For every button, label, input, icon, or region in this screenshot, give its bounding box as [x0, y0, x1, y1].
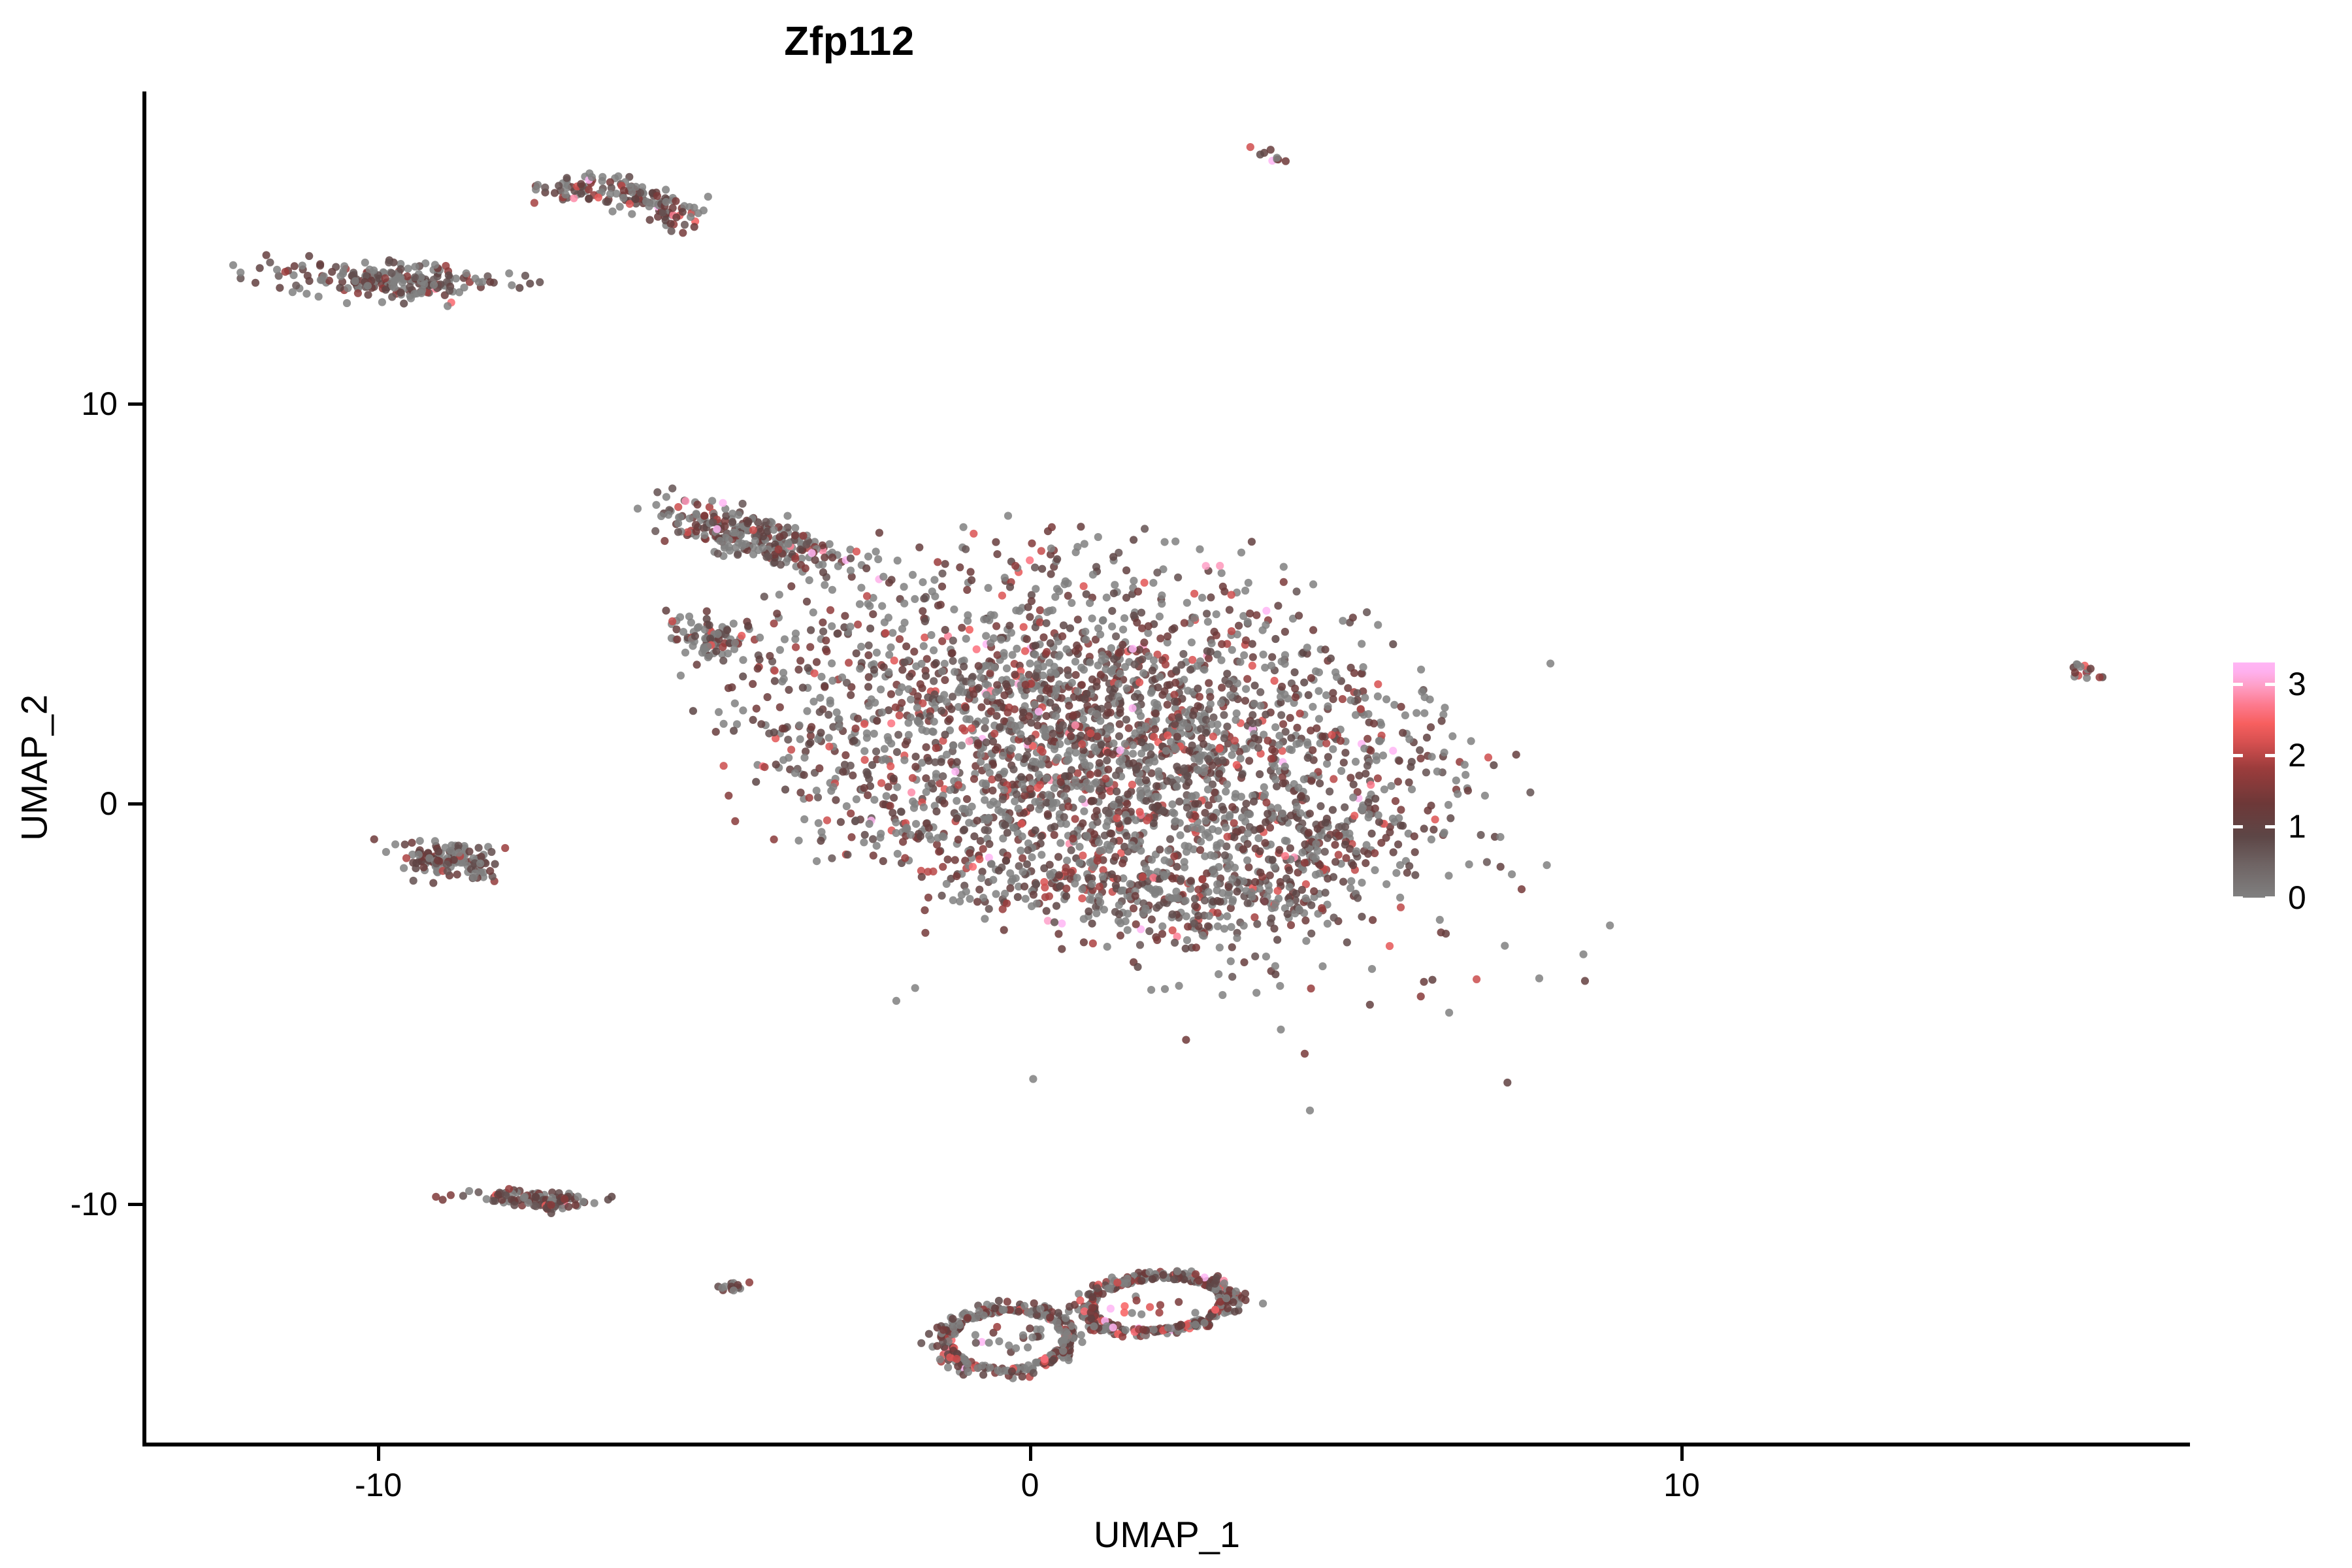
scatter-point: [730, 727, 738, 734]
scatter-point: [1353, 689, 1361, 697]
scatter-point: [1543, 861, 1551, 869]
scatter-point: [588, 173, 596, 181]
scatter-point: [1062, 892, 1070, 900]
scatter-point: [361, 259, 369, 267]
scatter-point: [1350, 781, 1358, 789]
scatter-point: [1000, 786, 1008, 794]
scatter-point: [668, 617, 676, 625]
scatter-point: [1262, 607, 1270, 615]
scatter-point: [936, 1356, 944, 1364]
scatter-point: [1274, 602, 1282, 610]
x-tick-label: 10: [1663, 1466, 1700, 1504]
scatter-point: [1322, 740, 1330, 747]
scatter-point: [1310, 887, 1318, 895]
scatter-point: [879, 800, 887, 808]
colorbar-tick-mark: [2265, 896, 2275, 900]
scatter-point: [1201, 896, 1209, 904]
scatter-point: [1060, 813, 1068, 821]
scatter-point: [770, 728, 778, 736]
scatter-point: [1022, 681, 1030, 689]
scatter-point: [1051, 919, 1058, 926]
scatter-point: [1066, 1303, 1073, 1311]
scatter-point: [841, 612, 849, 620]
scatter-point: [1060, 792, 1068, 800]
scatter-point: [1262, 711, 1269, 719]
scatter-point: [802, 540, 810, 548]
scatter-point: [1259, 1299, 1267, 1307]
scatter-point: [532, 1193, 540, 1201]
scatter-point: [873, 842, 881, 850]
scatter-point: [687, 619, 695, 627]
scatter-point: [1096, 847, 1103, 855]
scatter-point: [969, 673, 977, 681]
scatter-point: [1197, 838, 1205, 845]
scatter-point: [924, 693, 932, 701]
scatter-point: [1164, 632, 1171, 640]
scatter-point: [1209, 813, 1217, 821]
scatter-point: [604, 198, 612, 206]
scatter-point: [1181, 864, 1188, 872]
scatter-point: [1120, 614, 1128, 622]
scatter-point: [1231, 864, 1239, 872]
scatter-point: [892, 829, 900, 837]
scatter-point: [672, 625, 680, 633]
scatter-point: [1156, 634, 1164, 642]
scatter-point: [1074, 687, 1082, 695]
scatter-point: [1049, 606, 1056, 614]
scatter-point: [1467, 737, 1475, 745]
scatter-point: [1282, 157, 1290, 165]
scatter-point: [1315, 687, 1322, 695]
scatter-point: [1250, 734, 1258, 742]
scatter-point: [709, 519, 717, 527]
scatter-point: [1155, 1309, 1163, 1316]
scatter-point: [877, 779, 885, 787]
scatter-point: [1175, 1298, 1183, 1306]
scatter-point: [1420, 825, 1428, 832]
scatter-point: [1168, 910, 1176, 918]
scatter-point: [1364, 710, 1372, 718]
scatter-point: [819, 628, 827, 636]
scatter-point: [1241, 587, 1249, 595]
scatter-point: [981, 796, 988, 804]
scatter-point: [1179, 650, 1187, 658]
scatter-point: [714, 549, 722, 557]
scatter-point: [1177, 1321, 1185, 1329]
scatter-point: [1142, 776, 1150, 784]
scatter-point: [1112, 632, 1120, 640]
scatter-point: [1309, 852, 1316, 860]
scatter-point: [486, 867, 494, 875]
scatter-point: [1010, 824, 1018, 832]
scatter-point: [1231, 737, 1239, 745]
scatter-point: [399, 278, 406, 286]
scatter-point: [892, 704, 900, 711]
scatter-point: [1024, 846, 1032, 854]
scatter-point: [881, 745, 889, 753]
scatter-point: [922, 672, 930, 680]
scatter-point: [677, 672, 685, 679]
scatter-point: [1496, 833, 1504, 841]
scatter-point: [1211, 870, 1218, 877]
scatter-point: [1281, 837, 1289, 845]
scatter-point: [1183, 772, 1191, 780]
scatter-point: [1242, 800, 1250, 808]
scatter-point: [691, 223, 698, 231]
scatter-point: [1204, 755, 1212, 763]
scatter-point: [770, 836, 778, 843]
scatter-point: [911, 595, 919, 603]
scatter-point: [966, 895, 973, 903]
scatter-point: [1223, 723, 1231, 730]
scatter-point: [1210, 852, 1218, 860]
scatter-point: [781, 785, 789, 793]
scatter-point: [889, 629, 896, 637]
scatter-point: [1211, 1280, 1219, 1288]
scatter-point: [400, 864, 408, 872]
scatter-point: [1148, 915, 1156, 923]
scatter-point: [672, 197, 679, 205]
scatter-point: [989, 876, 997, 884]
scatter-point: [779, 669, 787, 677]
scatter-point: [651, 527, 659, 535]
scatter-point: [1063, 857, 1071, 864]
scatter-point: [1206, 693, 1214, 701]
scatter-point: [1049, 798, 1057, 806]
scatter-point: [551, 189, 559, 197]
scatter-point: [934, 834, 941, 841]
scatter-point: [1224, 833, 1232, 841]
scatter-point: [762, 518, 770, 526]
scatter-point: [1382, 880, 1390, 888]
scatter-point: [1120, 1309, 1128, 1316]
scatter-point: [1162, 747, 1170, 755]
scatter-point: [1002, 857, 1010, 864]
scatter-point: [787, 745, 795, 753]
scatter-point: [1350, 811, 1358, 819]
scatter-point: [666, 220, 674, 227]
scatter-point: [1094, 661, 1102, 669]
scatter-point: [578, 189, 585, 197]
scatter-point: [1192, 943, 1200, 951]
scatter-point: [895, 688, 903, 696]
scatter-point: [1368, 830, 1376, 838]
scatter-point: [928, 779, 936, 787]
scatter-point: [1011, 562, 1019, 570]
scatter-point: [704, 642, 711, 650]
scatter-point: [1053, 687, 1060, 695]
scatter-point: [1497, 863, 1505, 871]
scatter-point: [524, 1199, 532, 1207]
scatter-point: [835, 715, 843, 723]
scatter-point: [1154, 683, 1162, 691]
scatter-point: [1248, 889, 1256, 896]
scatter-point: [730, 1286, 738, 1294]
scatter-point: [813, 658, 821, 666]
scatter-point: [237, 269, 244, 276]
scatter-point: [1225, 680, 1233, 688]
scatter-point: [1139, 1326, 1147, 1333]
scatter-point: [406, 283, 414, 291]
scatter-point: [1233, 710, 1241, 717]
scatter-point: [900, 756, 908, 764]
scatter-point: [1049, 1356, 1057, 1364]
scatter-point: [745, 1279, 753, 1286]
scatter-point: [1094, 857, 1102, 864]
scatter-point: [819, 561, 826, 568]
scatter-point: [873, 649, 881, 657]
scatter-point: [772, 760, 780, 768]
scatter-point: [1321, 848, 1329, 856]
scatter-point: [378, 298, 386, 306]
scatter-point: [860, 838, 868, 846]
scatter-point: [657, 512, 665, 520]
scatter-point: [1021, 647, 1029, 655]
scatter-point: [1203, 829, 1211, 837]
scatter-point: [967, 568, 975, 576]
scatter-point: [1392, 797, 1399, 805]
scatter-point: [800, 771, 808, 779]
scatter-point: [1256, 885, 1264, 892]
colorbar-tick-mark: [2233, 825, 2243, 828]
scatter-point: [1315, 715, 1323, 723]
scatter-point: [817, 728, 825, 736]
scatter-point: [1198, 875, 1206, 883]
scatter-point: [1183, 804, 1191, 811]
scatter-point: [760, 593, 768, 600]
scatter-point: [1349, 861, 1357, 869]
scatter-point: [1312, 840, 1320, 848]
x-tick-label: 0: [1021, 1466, 1039, 1504]
scatter-point: [718, 1284, 726, 1292]
scatter-point: [447, 847, 455, 855]
scatter-point: [1020, 623, 1028, 631]
scatter-point: [563, 184, 571, 191]
scatter-point: [1068, 846, 1075, 854]
scatter-point: [1196, 546, 1203, 553]
scatter-point: [382, 848, 390, 856]
scatter-point: [1036, 1305, 1044, 1313]
scatter-point: [432, 1193, 440, 1201]
scatter-point: [689, 707, 697, 715]
scatter-point: [1149, 804, 1156, 811]
scatter-point: [751, 537, 759, 545]
scatter-point: [749, 680, 757, 688]
scatter-point: [1203, 610, 1211, 617]
scatter-point: [1424, 807, 1431, 815]
scatter-point: [946, 715, 954, 723]
scatter-point: [429, 879, 437, 887]
scatter-point: [1216, 943, 1224, 951]
scatter-point: [1245, 579, 1252, 587]
scatter-point: [1152, 782, 1160, 790]
scatter-point: [1396, 861, 1404, 869]
scatter-point: [1089, 939, 1097, 947]
scatter-point: [1429, 826, 1437, 834]
scatter-point: [1236, 658, 1244, 666]
scatter-point: [1135, 678, 1143, 686]
scatter-point: [879, 573, 887, 581]
scatter-point: [1281, 660, 1289, 668]
scatter-point: [1165, 893, 1173, 901]
scatter-point: [806, 794, 813, 802]
scatter-point: [604, 1196, 612, 1203]
scatter-point: [909, 798, 917, 806]
scatter-point: [354, 289, 362, 297]
scatter-point: [1003, 664, 1011, 672]
scatter-point: [1046, 1313, 1054, 1321]
scatter-point: [956, 563, 964, 571]
scatter-point: [1111, 853, 1119, 861]
scatter-point: [1181, 764, 1188, 772]
scatter-point: [1147, 751, 1154, 759]
scatter-point: [1233, 888, 1241, 896]
scatter-point: [431, 837, 439, 845]
scatter-point: [1024, 603, 1032, 611]
scatter-point: [1215, 970, 1222, 978]
scatter-point: [1059, 721, 1067, 729]
scatter-point: [979, 845, 987, 853]
scatter-point: [1330, 775, 1337, 783]
scatter-point: [1161, 538, 1169, 546]
scatter-point: [1316, 779, 1324, 787]
scatter-point: [1173, 863, 1181, 871]
scatter-point: [852, 817, 860, 825]
scatter-point: [1069, 835, 1077, 843]
scatter-point: [1305, 691, 1313, 699]
scatter-point: [838, 674, 846, 681]
scatter-point: [754, 664, 762, 672]
scatter-point: [1411, 832, 1418, 840]
scatter-point: [1267, 755, 1275, 762]
scatter-points-layer: [144, 91, 2190, 1444]
scatter-point: [1141, 525, 1149, 532]
scatter-point: [1149, 579, 1157, 587]
scatter-point: [970, 690, 977, 698]
scatter-point: [1128, 841, 1135, 849]
scatter-point: [1316, 802, 1324, 810]
scatter-point: [1058, 945, 1066, 953]
scatter-point: [981, 725, 988, 732]
scatter-point: [1199, 932, 1207, 939]
scatter-point: [1009, 766, 1017, 774]
scatter-point: [1001, 821, 1009, 829]
scatter-point: [1150, 657, 1158, 664]
scatter-point: [1169, 808, 1177, 816]
scatter-point: [1041, 1355, 1049, 1363]
scatter-point: [1397, 821, 1405, 829]
scatter-point: [1441, 704, 1448, 711]
scatter-point: [431, 261, 439, 269]
scatter-point: [938, 892, 946, 900]
scatter-point: [681, 497, 689, 505]
scatter-point: [938, 707, 945, 715]
scatter-point: [712, 728, 720, 736]
scatter-point: [1581, 977, 1589, 985]
scatter-point: [930, 718, 938, 726]
scatter-point: [1053, 902, 1060, 910]
scatter-point: [645, 203, 653, 210]
scatter-point: [1079, 885, 1086, 893]
scatter-point: [1365, 810, 1373, 818]
scatter-point: [1194, 825, 1201, 832]
scatter-point: [1183, 912, 1190, 920]
scatter-point: [1490, 761, 1497, 769]
scatter-point: [1296, 809, 1304, 817]
scatter-point: [447, 1191, 455, 1199]
scatter-point: [985, 584, 992, 592]
scatter-point: [850, 737, 858, 745]
scatter-point: [953, 797, 960, 805]
scatter-point: [1054, 930, 1062, 938]
scatter-point: [1217, 699, 1225, 707]
scatter-point: [1390, 701, 1398, 709]
scatter-point: [1030, 1299, 1038, 1307]
scatter-point: [708, 497, 716, 505]
scatter-point: [1286, 899, 1294, 907]
scatter-point: [1298, 886, 1306, 894]
scatter-point: [1442, 930, 1450, 938]
scatter-point: [828, 586, 836, 594]
scatter-point: [1309, 580, 1317, 588]
scatter-point: [1286, 844, 1294, 852]
scatter-point: [691, 632, 699, 640]
scatter-point: [728, 518, 736, 526]
scatter-point: [470, 874, 478, 881]
scatter-point: [1028, 853, 1036, 861]
scatter-point: [983, 738, 990, 746]
scatter-point: [1124, 926, 1132, 934]
scatter-point: [857, 643, 865, 651]
scatter-point: [704, 193, 712, 201]
scatter-point: [799, 532, 807, 540]
scatter-point: [1464, 787, 1472, 794]
scatter-point: [796, 735, 804, 743]
scatter-point: [1088, 676, 1096, 683]
scatter-point: [1111, 581, 1119, 589]
scatter-point: [1164, 847, 1172, 855]
scatter-point: [1374, 774, 1382, 782]
scatter-point: [1501, 942, 1509, 950]
scatter-point: [404, 265, 412, 272]
scatter-point: [1293, 587, 1301, 595]
scatter-point: [486, 278, 494, 286]
scatter-point: [693, 510, 700, 517]
scatter-point: [1191, 614, 1199, 622]
scatter-point: [930, 728, 938, 736]
scatter-point: [1394, 840, 1402, 848]
scatter-point: [1191, 800, 1199, 808]
scatter-point: [1051, 823, 1058, 830]
scatter-point: [955, 688, 962, 696]
scatter-point: [1291, 668, 1299, 676]
scatter-point: [1205, 679, 1213, 687]
scatter-point: [1200, 666, 1208, 674]
scatter-point: [1171, 720, 1179, 728]
scatter-point: [1301, 917, 1309, 924]
scatter-point: [901, 854, 909, 862]
scatter-point: [739, 500, 747, 508]
scatter-point: [1080, 938, 1088, 946]
scatter-point: [905, 685, 913, 693]
scatter-point: [1034, 784, 1041, 792]
scatter-point: [434, 857, 442, 864]
scatter-point: [792, 644, 800, 651]
scatter-point: [870, 796, 878, 804]
scatter-point: [744, 517, 752, 525]
colorbar-tick-mark: [2233, 896, 2243, 900]
scatter-point: [970, 775, 978, 783]
